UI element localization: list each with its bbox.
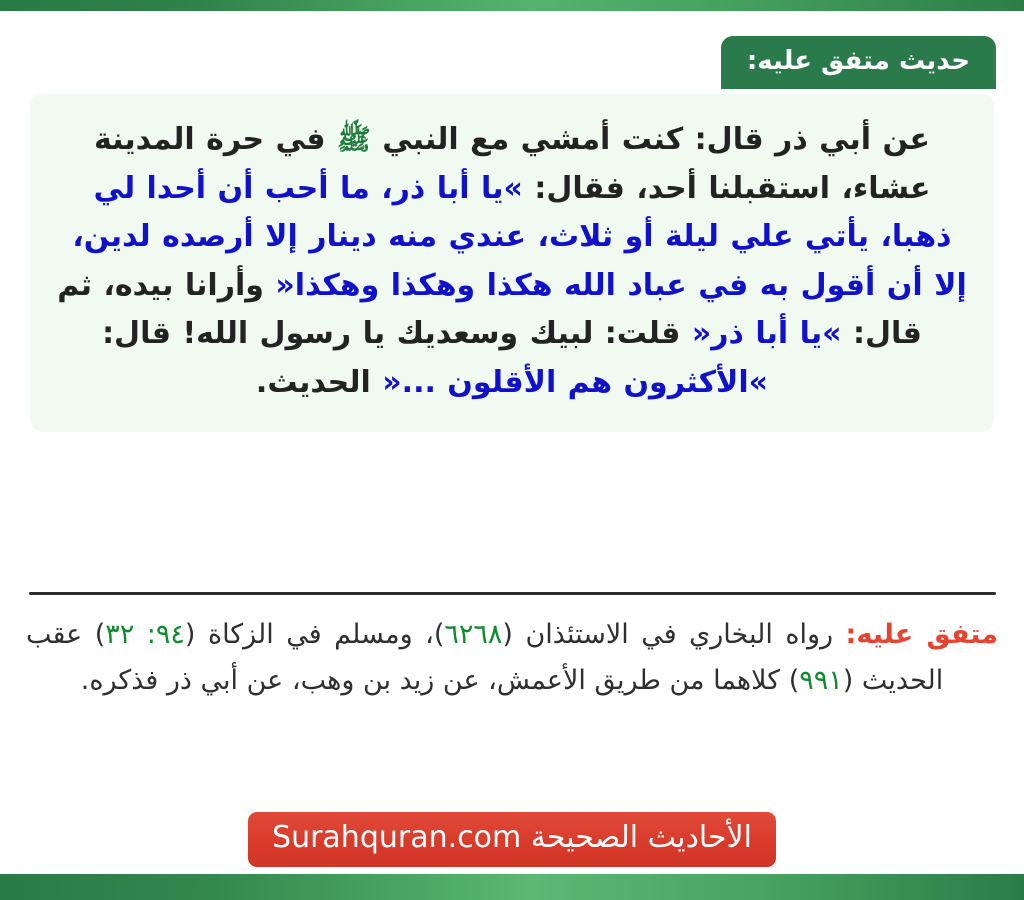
hadith-run-plain-6: قلت: لبيك وسعديك يا رسول الله! قال: — [102, 316, 692, 351]
takhrij-run-num-2: ٦٢٦٨ — [444, 619, 502, 650]
hadith-run-sall-1: ﷺ — [337, 123, 371, 156]
hadith-run-quote-7: »الأكثرون هم الأقلون ...« — [382, 365, 768, 400]
hadith-grade-badge: حديث متفق عليه: — [721, 36, 996, 89]
hadith-run-plain-0: عن أبي ذر قال: كنت أمشي مع النبي — [371, 122, 930, 157]
site-brand-banner[interactable]: الأحاديث الصحيحة Surahquran.com — [248, 812, 776, 867]
takhrij-run-plain-3: )، ومسلم في الزكاة ( — [185, 619, 444, 650]
takhrij-run-label-0: متفق عليه: — [846, 619, 998, 650]
takhrij-run-plain-7: ) كلاهما من طريق الأعمش، عن زيد بن وهب، … — [81, 665, 800, 696]
hadith-run-quote-5: »يا أبا ذر« — [692, 316, 842, 351]
takhrij-run-num-6: ٩٩١ — [799, 665, 843, 696]
footer-arabic-label: الأحاديث الصحيحة — [531, 820, 752, 855]
section-divider — [29, 592, 996, 595]
hadith-body: عن أبي ذر قال: كنت أمشي مع النبي ﷺ في حر… — [56, 116, 968, 408]
takhrij-run-num-4: ٩٤: ٣٢ — [105, 619, 185, 650]
footer-banner-row: الأحاديث الصحيحة Surahquran.com — [0, 812, 1024, 867]
footer-site-name: Surahquran.com — [272, 820, 521, 855]
top-decorative-bar — [0, 0, 1024, 11]
header-badge-row: حديث متفق عليه: — [0, 36, 1024, 89]
takhrij-run-plain-1: رواه البخاري في الاستئذان ( — [502, 619, 845, 650]
hadith-run-plain-8: الحديث. — [256, 365, 382, 400]
hadith-text-box: عن أبي ذر قال: كنت أمشي مع النبي ﷺ في حر… — [30, 94, 994, 432]
bottom-decorative-bar — [0, 874, 1024, 900]
takhrij-citation: متفق عليه: رواه البخاري في الاستئذان (٦٢… — [26, 612, 998, 705]
